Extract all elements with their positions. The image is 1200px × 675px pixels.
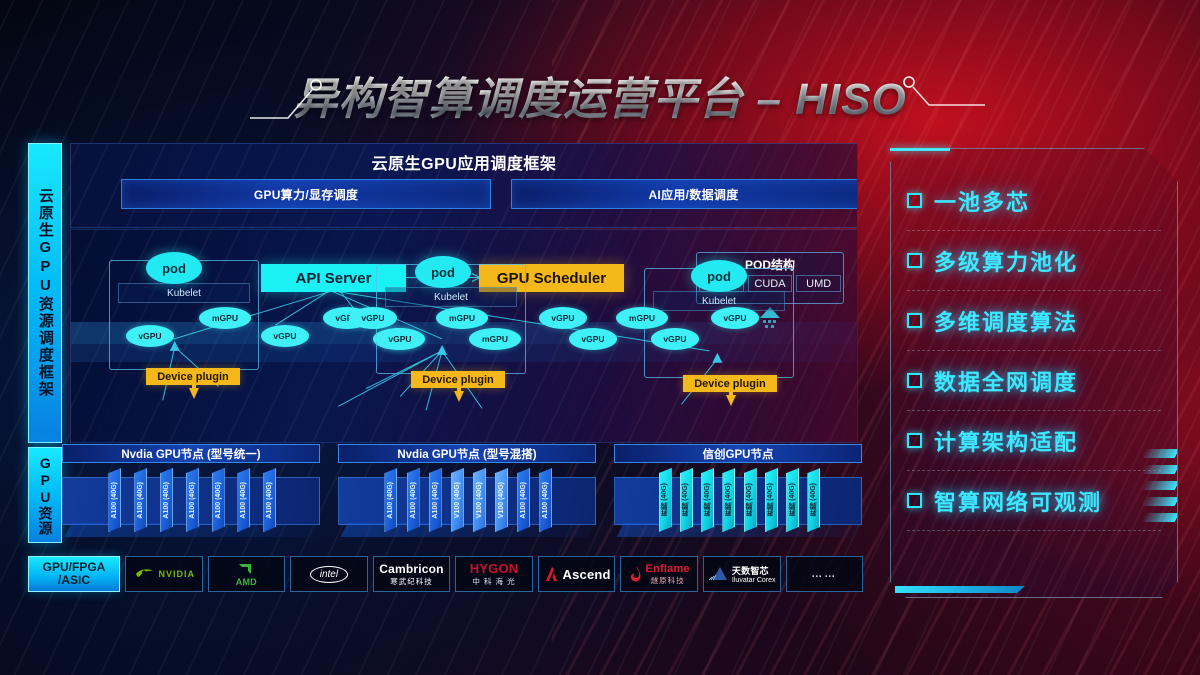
gpu-card[interactable]: 昇腾 (40G) [659,468,672,532]
feature-label: 一池多芯 [934,185,1030,217]
pod-structure-cell-umd: UMD [796,275,841,292]
device-plugin-label: Device plugin [694,378,766,390]
gpu-card-label: A100 (40G) [410,482,417,519]
gpu-group-header: Nvdia GPU节点 (型号统一) [62,444,320,463]
gpu-card-label: 昇腾 (40G) [809,483,819,517]
gpu-card-label: 昇腾 (40G) [724,483,734,517]
gpu-card-label: 昇腾 (40G) [660,483,670,517]
kubelet-box: Kubelet [385,287,517,307]
gpu-card[interactable]: 昇腾 (40G) [765,468,778,532]
gpu-group-2[interactable]: Nvdia GPU节点 (型号混搭) A100 (40G)A100 (40G)A… [338,444,596,546]
vendor-cambricon[interactable]: Cambricon 寒武纪科技 [373,556,451,592]
feature-label: 计算架构适配 [934,425,1078,457]
gpu-oval-label: mGPU [482,334,508,344]
title-bar: 异构智算调度运营平台 – HISO [0,60,1200,130]
bar-label: AI应用/数据调度 [648,186,738,203]
gpu-card-label: V100 (40G) [476,482,483,518]
framework-header: 云原生GPU应用调度框架 GPU算力/显存调度 AI应用/数据调度 [70,143,858,228]
gpu-oval-label: mGPU [629,313,655,323]
cloud-native-gpu-framework-panel: 云原生GPU应用调度框架 GPU算力/显存调度 AI应用/数据调度 [28,143,858,443]
gpu-card[interactable]: A100 (40G) [134,468,147,532]
vendor-ascend[interactable]: Ascend [538,556,616,592]
gpu-card-label: 昇腾 (40G) [703,483,713,517]
pod-label: pod [162,261,186,276]
gpu-card[interactable]: A100 (40G) [237,468,250,532]
vendor-name: …… [811,568,837,580]
pod-oval-1[interactable]: pod [146,252,202,284]
device-plugin-label: Device plugin [422,374,494,386]
panel-bottom-accent [895,586,1025,593]
slide-background: 异构智算调度运营平台 – HISO 云原生GPU资源调度框架 GPU资源 云原生… [0,0,1200,675]
feature-item-3[interactable]: 多维调度算法 [907,291,1161,351]
vendor-subtitle: Iluvatar Corex [732,577,776,584]
gpu-oval-label: vGPU [723,313,746,323]
gpu-group-header: Nvdia GPU节点 (型号混搭) [338,444,596,463]
gpu-card[interactable]: 昇腾 (40G) [744,468,757,532]
device-plugin-down-arrow-icon [189,384,199,400]
gpu-group-slab [338,477,596,525]
gpu-card[interactable]: A100 (40G) [212,468,225,532]
framework-header-title: 云原生GPU应用调度框架 [71,150,857,174]
gpu-group-header: 信创GPU节点 [614,444,862,463]
framework-body: API Server GPU Scheduler POD结构 APP CUDA … [70,229,858,443]
nvidia-eye-icon [133,566,155,582]
gpu-card-label: A100 (40G) [111,482,118,519]
iluvatar-mountain-icon [708,566,728,582]
gpu-group-slab [614,477,862,525]
gpu-card[interactable]: A100 (40G) [517,468,530,532]
gpu-oval[interactable]: vGPU [539,307,587,329]
vendor-name: Enflame [646,563,690,575]
gpu-oval[interactable]: mGPU [469,328,521,350]
feature-panel: 一池多芯 多级算力池化 多维调度算法 数据全网调度 计算架构适配 智算网络可观测 [890,148,1178,598]
vendor-logo-row: GPU/FPGA /ASIC NVIDIA AMD intel Cambrico… [28,556,863,592]
gpu-card[interactable]: A100 (40G) [539,468,552,532]
pod-oval-2[interactable]: pod [415,256,471,288]
vendor-name: Ascend [563,567,611,582]
gpu-oval-label: vGPU [388,334,411,344]
feature-label: 多维调度算法 [934,305,1078,337]
vendor-name: NVIDIA [159,569,196,579]
device-plugin-1[interactable]: Device plugin [146,368,240,385]
gpu-card[interactable]: 昇腾 (40G) [807,468,820,532]
checkbox-icon [907,313,922,328]
vendor-name: HYGON [470,561,519,576]
gpu-oval[interactable]: vGPU [569,328,617,350]
enflame-flame-icon [629,566,642,583]
gpu-card[interactable]: V100 (40G) [495,468,508,532]
pod-label: pod [707,269,731,284]
kubelet-box: Kubelet [118,283,250,303]
checkbox-icon [907,253,922,268]
gpu-card-label: A100 (40G) [266,482,273,519]
gpu-oval-label: vGPU [273,331,296,341]
vendor-more[interactable]: …… [786,556,864,592]
feature-item-1[interactable]: 一池多芯 [907,171,1161,231]
vendor-name: Cambricon [379,562,443,576]
device-plugin-2[interactable]: Device plugin [411,371,505,388]
gpu-oval-label: mGPU [449,313,475,323]
gpu-oval[interactable]: vGPU [126,325,174,347]
gpu-card[interactable]: 昇腾 (40G) [786,468,799,532]
vendor-row-tab: GPU/FPGA /ASIC [28,556,120,592]
gpu-card[interactable]: A100 (40G) [160,468,173,532]
gpu-card-label: A100 (40G) [137,482,144,519]
panel-teeth-decoration [1143,449,1177,559]
vendor-amd[interactable]: AMD [208,556,286,592]
gpu-card[interactable]: 昇腾 (40G) [722,468,735,532]
vendor-intel[interactable]: intel [290,556,368,592]
vendor-iluvatar[interactable]: 天数智芯 Iluvatar Corex [703,556,781,592]
vendor-subtitle: 燧原科技 [646,575,690,586]
vendor-enflame[interactable]: Enflame 燧原科技 [620,556,698,592]
gpu-card-label: A100 (40G) [520,482,527,519]
gpu-oval-label: vGPU [551,313,574,323]
feature-item-5[interactable]: 计算架构适配 [907,411,1161,471]
pod-oval-3[interactable]: pod [691,260,747,292]
gpu-oval-label: vGPU [581,334,604,344]
ascend-logo-icon [543,566,559,582]
gpu-card[interactable]: A100 (40G) [429,468,442,532]
rail-label-gpu-resource-text: GPU资源 [38,455,53,536]
vendor-name: AMD [236,577,257,587]
gpu-oval[interactable]: vGPU [376,328,424,350]
gpu-resource-row: Nvdia GPU节点 (型号统一) A100 (40G)A100 (40G)A… [62,444,862,546]
gpu-card-label: A100 (40G) [189,482,196,519]
feature-label: 智算网络可观测 [934,485,1102,517]
gpu-card-label: A100 (40G) [432,482,439,519]
kubelet-box: Kubelet [653,291,785,311]
bar-gpu-compute-memory-scheduling[interactable]: GPU算力/显存调度 [121,179,491,209]
title-left-decoration [250,60,340,130]
gpu-card-label: A100 (40G) [387,482,394,519]
vendor-tab-line2: /ASIC [58,574,90,587]
rail-label-gpu-resource: GPU资源 [28,447,62,543]
gpu-oval-label: vGPU [663,334,686,344]
gpu-card[interactable]: 昇腾 (40G) [701,468,714,532]
gpu-card[interactable]: A100 (40G) [186,468,199,532]
gpu-card[interactable]: V100 (40G) [473,468,486,532]
gpu-group-shadow [617,523,862,537]
device-plugin-down-arrow-icon [454,387,464,403]
title-right-decoration [895,60,985,130]
checkbox-icon [907,373,922,388]
gpu-card[interactable]: A100 (40G) [108,468,121,532]
feature-item-4[interactable]: 数据全网调度 [907,351,1161,411]
api-server-label: API Server [296,270,372,287]
feature-label: 数据全网调度 [934,365,1078,397]
vendor-hygon[interactable]: HYGON 中 科 海 光 [455,556,533,592]
panel-top-accent [890,148,950,151]
gpu-card-label: V100 (40G) [454,482,461,518]
gpu-card-label: A100 (40G) [542,482,549,519]
gpu-card-label: V100 (40G) [498,482,505,518]
gpu-card-label: A100 (40G) [163,482,170,519]
gpu-oval[interactable]: mGPU [199,307,251,329]
gpu-oval[interactable]: vGPU [651,328,699,350]
gpu-card[interactable]: V100 (40G) [451,468,464,532]
feature-item-6[interactable]: 智算网络可观测 [907,471,1161,531]
gpu-card[interactable]: A100 (40G) [407,468,420,532]
gpu-card-label: A100 (40G) [240,482,247,519]
gpu-card-label: 昇腾 (40G) [681,483,691,517]
gpu-card-label: 昇腾 (40G) [745,483,755,517]
gpu-oval-label: vGPU [361,313,384,323]
gpu-card[interactable]: A100 (40G) [263,468,276,532]
vendor-subtitle: 寒武纪科技 [390,576,433,587]
gpu-oval[interactable]: mGPU [436,307,488,329]
checkbox-icon [907,193,922,208]
gpu-card[interactable]: A100 (40G) [384,468,397,532]
bar-label: GPU算力/显存调度 [254,186,358,203]
checkbox-icon [907,433,922,448]
gpu-card[interactable]: 昇腾 (40G) [680,468,693,532]
device-plugin-3[interactable]: Device plugin [683,375,777,392]
bar-ai-app-data-scheduling[interactable]: AI应用/数据调度 [511,179,858,209]
vendor-name: 天数智芯 [732,564,776,577]
gpu-oval-label: mGPU [212,313,238,323]
checkbox-icon [907,493,922,508]
gpu-oval[interactable]: vGPU [261,325,309,347]
gpu-group-3[interactable]: 信创GPU节点 昇腾 (40G)昇腾 (40G)昇腾 (40G)昇腾 (40G)… [614,444,862,546]
gpu-group-shadow [341,523,596,537]
feature-label: 多级算力池化 [934,245,1078,277]
device-plugin-down-arrow-icon [726,391,736,407]
gpu-card-label: 昇腾 (40G) [766,483,776,517]
gpu-card-label: 昇腾 (40G) [788,483,798,517]
device-plugin-label: Device plugin [157,371,229,383]
pod-label: pod [431,265,455,280]
gpu-oval-label: vGPU [138,331,161,341]
gpu-oval[interactable]: vGPU [349,307,397,329]
gpu-oval[interactable]: mGPU [616,307,668,329]
vendor-nvidia[interactable]: NVIDIA [125,556,203,592]
page-title: 异构智算调度运营平台 – HISO [293,63,907,127]
vendor-tab-line1: GPU/FPGA [43,561,106,574]
feature-item-2[interactable]: 多级算力池化 [907,231,1161,291]
vendor-subtitle: 中 科 海 光 [472,576,515,587]
amd-arrow-icon [237,562,255,576]
gpu-oval[interactable]: vGPU [711,307,759,329]
gpu-group-1[interactable]: Nvdia GPU节点 (型号统一) A100 (40G)A100 (40G)A… [62,444,320,546]
gpu-card-label: A100 (40G) [215,482,222,519]
vendor-name: intel [310,566,348,583]
